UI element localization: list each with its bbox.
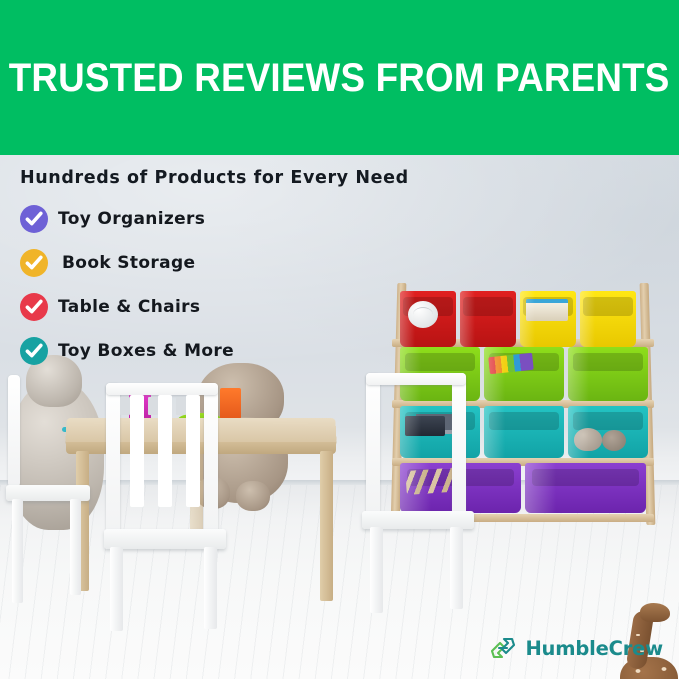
chair-back-slat xyxy=(130,395,144,507)
chair-back-top-rail xyxy=(366,373,466,385)
checklist-item-book-storage[interactable]: Book Storage xyxy=(20,241,409,285)
chair-leg xyxy=(450,527,463,609)
checklist-item-label: Table & Chairs xyxy=(58,297,200,317)
chair-back-post xyxy=(106,383,120,543)
checklist-heading: Hundreds of Products for Every Need xyxy=(20,168,409,188)
page-title: TRUSTED REVIEWS FROM PARENTS xyxy=(9,58,670,98)
chair-back-gap xyxy=(176,397,186,415)
check-icon xyxy=(20,249,48,277)
chair-back-post xyxy=(204,383,218,543)
checklist-item-label: Toy Organizers xyxy=(58,209,205,229)
checklist-item-label: Toy Boxes & More xyxy=(58,341,234,361)
chair-front-center xyxy=(106,383,236,633)
chair-back-slat xyxy=(158,395,172,507)
humblecrew-logo-icon xyxy=(486,631,520,665)
chair-left xyxy=(6,375,98,605)
chair-back-post xyxy=(452,373,466,523)
checklist-item-table-and-chairs[interactable]: Table & Chairs xyxy=(20,285,409,329)
checklist-item-label: Book Storage xyxy=(62,253,195,273)
plush-bear-paw xyxy=(236,481,270,511)
brand-logo[interactable]: HumbleCrew xyxy=(486,631,663,665)
feature-checklist: Hundreds of Products for Every Need Toy … xyxy=(20,168,409,373)
chair-back-gap xyxy=(120,397,130,415)
chair-back-post xyxy=(8,375,20,487)
checklist-item-toy-organizers[interactable]: Toy Organizers xyxy=(20,197,409,241)
product-infographic: TRUSTED REVIEWS FROM PARENTS xyxy=(0,0,679,679)
table-leg xyxy=(320,451,333,601)
chair-back-top-rail xyxy=(106,383,218,395)
check-icon xyxy=(20,337,48,365)
chair-seat xyxy=(104,529,226,549)
brand-name: HumbleCrew xyxy=(525,637,663,660)
chair-back-gap xyxy=(148,397,158,415)
checklist-item-toy-boxes[interactable]: Toy Boxes & More xyxy=(20,329,409,373)
header-banner: TRUSTED REVIEWS FROM PARENTS xyxy=(0,0,679,155)
chair-leg xyxy=(370,527,383,613)
chair-back-post xyxy=(366,373,380,523)
chair-leg xyxy=(12,499,23,603)
chair-leg xyxy=(70,499,81,595)
playroom-photo: Hundreds of Products for Every Need Toy … xyxy=(0,155,679,679)
chair-right xyxy=(366,373,486,613)
check-icon xyxy=(20,293,48,321)
chair-back-slat xyxy=(186,395,200,507)
chair-leg xyxy=(110,547,123,631)
check-icon xyxy=(20,205,48,233)
chair-leg xyxy=(204,547,217,629)
